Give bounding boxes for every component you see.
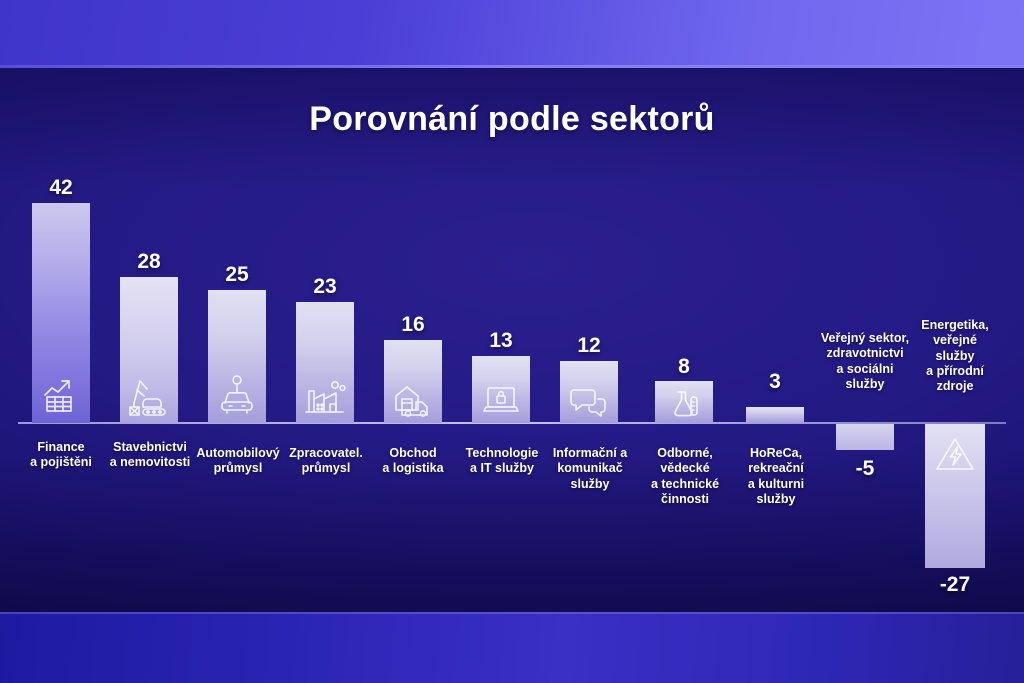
page-title: Porovnání podle sektorů <box>0 100 1024 139</box>
bar-value-manufacturing: 23 <box>296 275 354 299</box>
bar-value-technology-it: 13 <box>472 329 530 353</box>
chat-bubbles-icon <box>568 386 610 418</box>
bar-value-retail-logistics: 16 <box>384 313 442 337</box>
crane-icon <box>128 377 170 417</box>
bar-value-finance: 42 <box>32 176 90 200</box>
bar-label-horeca: HoReCa, rekreační a kulturni služby <box>730 446 822 507</box>
lightning-hazard-icon <box>932 434 978 476</box>
bar-horeca[interactable] <box>746 407 804 423</box>
bar-construction[interactable] <box>120 277 178 423</box>
bar-technology-it[interactable] <box>472 356 530 423</box>
bar-ict-services[interactable] <box>560 361 618 423</box>
growth-chart-icon <box>41 375 81 415</box>
slide-canvas: Porovnání podle sektorů 42 Finance a poj… <box>0 0 1024 683</box>
bar-value-ict-services: 12 <box>560 334 618 358</box>
bar-professional-scientific[interactable] <box>655 381 713 423</box>
electric-car-icon <box>216 373 258 417</box>
laptop-lock-icon <box>480 384 522 418</box>
bar-value-public-sector: -5 <box>836 457 894 481</box>
warehouse-truck-icon <box>392 380 434 418</box>
factory-icon <box>303 379 347 417</box>
bottom-gradient-band <box>0 612 1024 683</box>
bar-finance[interactable] <box>32 203 90 423</box>
bar-value-automotive: 25 <box>208 263 266 287</box>
bar-public-sector[interactable] <box>836 424 894 450</box>
bar-value-construction: 28 <box>120 250 178 274</box>
bar-label-professional-scientific: Odborné, vědecké a technické činnosti <box>637 446 733 507</box>
bar-label-ict-services: Informační a komunikač služby <box>540 446 640 492</box>
flask-icon <box>666 388 702 420</box>
bar-value-horeca: 3 <box>746 370 804 394</box>
bar-energy-utilities[interactable] <box>925 424 985 568</box>
bar-retail-logistics[interactable] <box>384 340 442 423</box>
bar-manufacturing[interactable] <box>296 302 354 423</box>
bar-label-energy-utilities: Energetika, veřejné služby a přírodní zd… <box>903 318 1007 394</box>
bar-label-technology-it: Technologie a IT služby <box>450 446 554 477</box>
bar-value-energy-utilities: -27 <box>925 573 985 597</box>
bar-value-professional-scientific: 8 <box>655 355 713 379</box>
top-gradient-band <box>0 0 1024 68</box>
bar-automotive[interactable] <box>208 290 266 423</box>
